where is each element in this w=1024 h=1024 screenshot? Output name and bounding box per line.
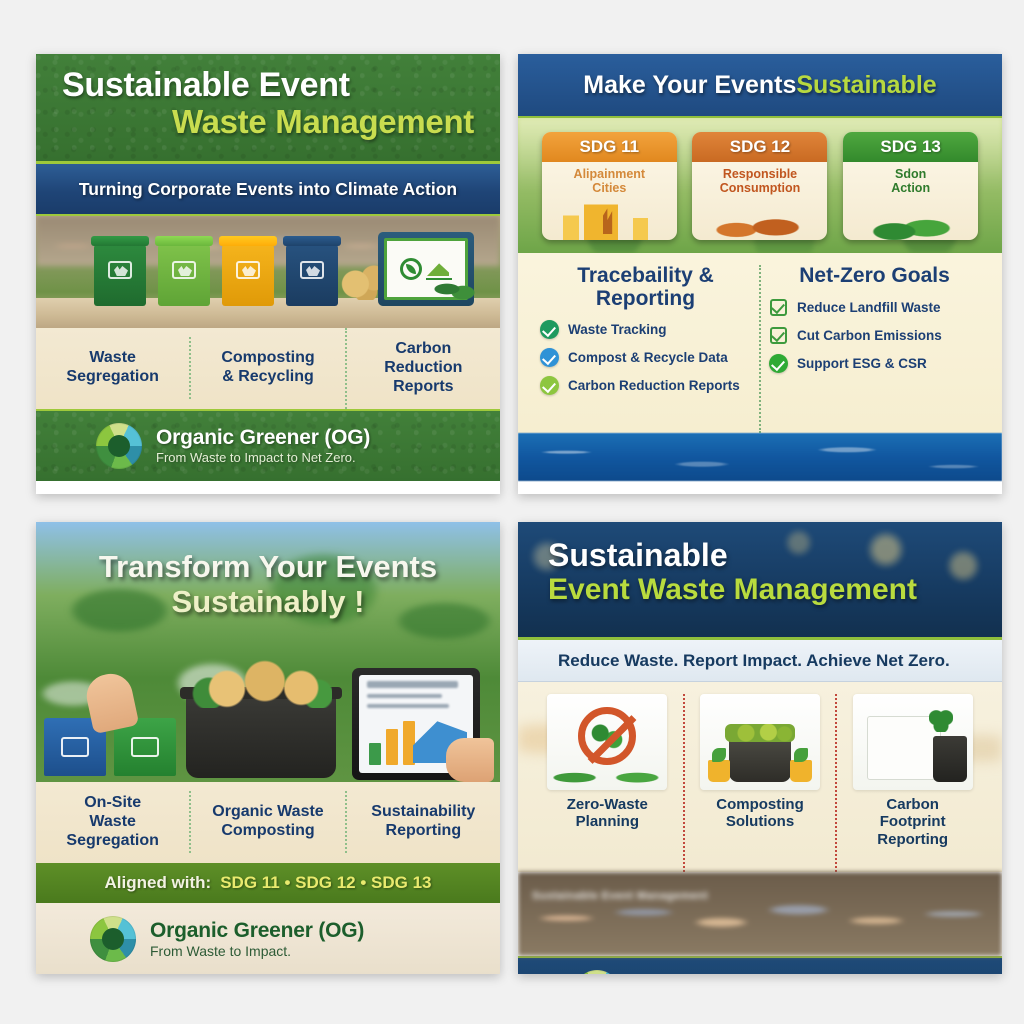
tr-left-list: Waste Tracking Compost & Recycle Data Ca… — [540, 320, 751, 395]
bl-aligned-label: Aligned with: — [105, 873, 212, 893]
sdg-11-body: Alipainment Cities — [542, 162, 677, 195]
tl-feature-columns: Waste Segregation Composting & Recycling… — [36, 328, 500, 409]
tr-right-heading: Net-Zero Goals — [799, 264, 950, 287]
hand-holding-tablet-icon — [446, 738, 494, 782]
tl-brand-tagline: From Waste to Impact to Net Zero. — [156, 450, 370, 465]
br-title-line2: Event Waste Management — [548, 573, 978, 607]
sdg-11-line2: Cities — [548, 181, 671, 195]
organic-waste-icon — [192, 660, 332, 708]
sdg-13-body: Sdon Action — [843, 162, 978, 195]
bin-label — [172, 261, 196, 279]
sdg-card-band: SDG 11 Alipainment Cities SDG 12 Respons… — [518, 118, 1002, 253]
bl-feature-2-line2: Composting — [197, 822, 338, 841]
list-item: Compost & Recycle Data — [540, 348, 751, 367]
compost-bin-plants-icon — [700, 694, 820, 790]
bl-feature-1: On-Site Waste Segregation — [36, 782, 189, 863]
list-item: Reduce Landfill Waste — [769, 298, 980, 317]
tl-feature-2-line2: & Recycling — [197, 368, 338, 387]
tl-brand-text: Organic Greener (OG) From Waste to Impac… — [156, 426, 370, 465]
green-leaves-icon — [553, 758, 661, 786]
sdg-12-line1: Responsible — [698, 167, 821, 181]
sdg-13-badge: SDG 13 — [843, 132, 978, 162]
bl-brand-tagline: From Waste to Impact. — [150, 943, 364, 959]
bl-brand-footer: Organic Greener (OG) From Waste to Impac… — [36, 903, 500, 974]
recycle-bin-light-green-icon — [158, 244, 210, 306]
compost-bin — [729, 738, 791, 782]
tr-header: Make Your Events Sustainable — [518, 54, 1002, 118]
city-buildings-icon — [542, 198, 677, 240]
sdg-card-12[interactable]: SDG 12 Responsible Consumption — [692, 132, 827, 240]
shopping-bags-icon — [692, 198, 827, 240]
list-item: Waste Tracking — [540, 320, 751, 339]
bl-feature-3-line2: Reporting — [353, 822, 494, 841]
bl-title: Transform Your Events Sustainably ! — [36, 522, 500, 619]
br-caption-3-line1: Carbon — [843, 796, 982, 813]
blurred-line — [367, 694, 442, 698]
br-brand-footer: Organic Greener (OG) From Waste to Impac… — [518, 956, 1002, 974]
bl-feature-1-line1: On-Site — [42, 794, 183, 813]
sdg-card-13[interactable]: SDG 13 Sdon Action — [843, 132, 978, 240]
br-caption-2-line2: Solutions — [691, 813, 830, 830]
br-caption-2-line1: Composting — [691, 796, 830, 813]
tl-photo-strip — [36, 216, 500, 328]
br-cell-3: Carbon Footprint Reporting — [835, 694, 988, 872]
list-item: Cut Carbon Emissions — [769, 326, 980, 345]
green-leaves-icon — [432, 274, 482, 304]
blurred-heading — [367, 681, 458, 688]
blue-water-recycling-facility-image — [518, 433, 1002, 481]
panel-top-right: Make Your Events Sustainable SDG 11 Alip… — [518, 54, 1002, 494]
prohibition-circle — [578, 707, 636, 765]
bl-feature-3: Sustainability Reporting — [345, 791, 500, 853]
bar-green — [369, 743, 381, 765]
carbon-report-document-icon — [853, 694, 973, 790]
tr-left-item-3: Carbon Reduction Reports — [568, 378, 740, 393]
check-icon — [769, 354, 788, 373]
tr-left-heading: Tracebaility & Reporting — [540, 265, 751, 310]
sdg-11-badge: SDG 11 — [542, 132, 677, 162]
panel-bottom-left: Transform Your Events Sustainably ! — [36, 522, 500, 974]
sdg-12-line2: Consumption — [698, 181, 821, 195]
sdg-12-badge: SDG 12 — [692, 132, 827, 162]
leaf-badge-icon — [400, 258, 422, 280]
blurred-line — [367, 704, 449, 708]
bl-brand-text: Organic Greener (OG) From Waste to Impac… — [150, 919, 364, 959]
dark-bin-icon — [933, 736, 967, 782]
og-logo-icon — [96, 423, 142, 469]
tr-left-heading-line1: Tracebaility & — [540, 265, 751, 288]
tr-right-item-3: Support ESG & CSR — [797, 356, 927, 371]
tr-left-item-1: Waste Tracking — [568, 322, 667, 337]
bl-title-line2: Sustainably ! — [66, 585, 470, 620]
sdg-13-line1: Sdon — [849, 167, 972, 181]
check-icon — [540, 320, 559, 339]
poster-collage-canvas: Sustainable Event Waste Management Turni… — [0, 0, 1024, 1024]
check-icon — [540, 376, 559, 395]
br-title-line1: Sustainable — [548, 538, 978, 573]
clover-leaf-icon — [929, 710, 953, 732]
bins-group — [36, 228, 500, 306]
br-cell-2: Composting Solutions — [683, 694, 836, 872]
br-caption-3: Carbon Footprint Reporting — [843, 796, 982, 848]
tr-left-item-2: Compost & Recycle Data — [568, 350, 728, 365]
br-caption-1-line2: Planning — [538, 813, 677, 830]
panel-top-left: Sustainable Event Waste Management Turni… — [36, 54, 500, 494]
tl-feature-2-line1: Composting — [197, 349, 338, 368]
recycle-bin-dark-green-icon — [94, 244, 146, 306]
bl-sdg-alignment-bar: Aligned with: SDG 11 • SDG 12 • SDG 13 — [36, 863, 500, 903]
bl-feature-columns: On-Site Waste Segregation Organic Waste … — [36, 782, 500, 863]
br-crowd-image: Sustainable Event Management — [518, 872, 1002, 956]
br-brand-name: Organic Greener (OG) — [634, 973, 848, 974]
tl-feature-3: Carbon Reduction Reports — [345, 328, 500, 409]
bin-label — [108, 261, 132, 279]
br-caption-1-line1: Zero-Waste — [538, 796, 677, 813]
tl-header: Sustainable Event Waste Management — [36, 54, 500, 164]
tr-left-column: Tracebaility & Reporting Waste Tracking … — [532, 265, 759, 433]
sdg-13-line2: Action — [849, 181, 972, 195]
bl-scene — [36, 654, 500, 782]
no-waste-prohibited-icon — [547, 694, 667, 790]
tr-left-heading-line2: Reporting — [540, 288, 751, 311]
br-crowd-caption: Sustainable Event Management — [532, 890, 708, 902]
tr-right-column: Net-Zero Goals Reduce Landfill Waste Cut… — [759, 265, 988, 433]
bl-feature-1-line2: Waste Segregation — [42, 813, 183, 851]
bl-feature-2: Organic Waste Composting — [189, 791, 344, 853]
tr-right-item-2: Cut Carbon Emissions — [797, 328, 942, 343]
tr-right-item-1: Reduce Landfill Waste — [797, 300, 941, 315]
bl-feature-2-line1: Organic Waste — [197, 803, 338, 822]
bin-label — [236, 261, 260, 279]
tl-title-line1: Sustainable Event — [62, 68, 478, 104]
bar-orange — [386, 729, 398, 765]
tr-right-list: Reduce Landfill Waste Cut Carbon Emissio… — [769, 298, 980, 373]
potted-plant-right-icon — [790, 760, 812, 782]
panel-bottom-right: Sustainable Event Waste Management Reduc… — [518, 522, 1002, 974]
check-icon — [540, 348, 559, 367]
recycle-bin-yellow-icon — [222, 244, 274, 306]
list-item: Support ESG & CSR — [769, 354, 980, 373]
br-feature-cells: Zero-Waste Planning Composting Solutions — [518, 682, 1002, 872]
sdg-12-body: Responsible Consumption — [692, 162, 827, 195]
crate-label — [131, 737, 159, 757]
br-caption-1: Zero-Waste Planning — [538, 796, 677, 831]
og-logo-icon — [90, 916, 136, 962]
tl-feature-2: Composting & Recycling — [189, 337, 344, 399]
check-outline-icon — [769, 326, 788, 345]
sdg-card-11[interactable]: SDG 11 Alipainment Cities — [542, 132, 677, 240]
sdg-11-line1: Alipainment — [548, 167, 671, 181]
tl-feature-1: Waste Segregation — [36, 337, 189, 399]
tl-feature-3-line2: Reduction Reports — [353, 359, 494, 397]
br-cell-1: Zero-Waste Planning — [532, 694, 683, 872]
tl-brand-name: Organic Greener (OG) — [156, 426, 370, 450]
crate-label — [61, 737, 89, 757]
br-caption-3-line2: Footprint Reporting — [843, 813, 982, 848]
list-item: Carbon Reduction Reports — [540, 376, 751, 395]
dashboard-bar-chart — [369, 719, 415, 765]
bl-brand-name: Organic Greener (OG) — [150, 919, 364, 943]
tr-body: Tracebaility & Reporting Waste Tracking … — [518, 253, 1002, 433]
br-header: Sustainable Event Waste Management — [518, 522, 1002, 640]
br-caption-2: Composting Solutions — [691, 796, 830, 831]
bl-aligned-values: SDG 11 • SDG 12 • SDG 13 — [220, 873, 431, 893]
tr-title-plain: Make Your Events — [583, 71, 796, 100]
bl-hero-image: Transform Your Events Sustainably ! — [36, 522, 500, 782]
tr-title-accent: Sustainable — [796, 71, 936, 100]
tl-feature-1-line1: Waste — [42, 349, 183, 368]
tr-right-heading-wrap: Net-Zero Goals — [769, 265, 980, 288]
check-outline-icon — [769, 298, 788, 317]
tl-title-line2: Waste Management — [62, 104, 478, 140]
tl-feature-1-line2: Segregation — [42, 368, 183, 387]
tl-subtitle: Turning Corporate Events into Climate Ac… — [36, 164, 500, 216]
br-subtitle: Reduce Waste. Report Impact. Achieve Net… — [518, 640, 1002, 682]
bl-feature-3-line1: Sustainability — [353, 803, 494, 822]
br-brand-text: Organic Greener (OG) From Waste to Impac… — [634, 973, 848, 974]
og-logo-icon — [574, 970, 620, 974]
tl-feature-3-line1: Carbon — [353, 340, 494, 359]
potted-plant-left-icon — [708, 760, 730, 782]
bl-title-line1: Transform Your Events — [66, 550, 470, 585]
tl-brand-footer: Organic Greener (OG) From Waste to Impac… — [36, 409, 500, 481]
green-leaves-icon — [843, 198, 978, 240]
bin-label — [300, 261, 324, 279]
recycle-bin-navy-icon — [286, 244, 338, 306]
